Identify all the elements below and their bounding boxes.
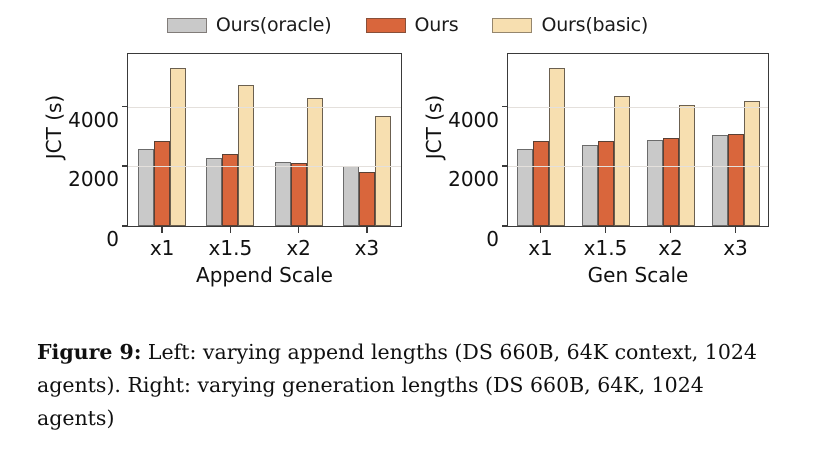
bar-gen-x1-tan[interactable] xyxy=(549,68,565,226)
x-tick-label-x1.5: x1.5 xyxy=(584,236,628,260)
bar-gen-x2-orange[interactable] xyxy=(663,138,679,226)
x-tick-mark-x2 xyxy=(298,226,300,233)
bar-append-x1.5-orange[interactable] xyxy=(222,154,238,226)
x-tick-label-x2: x2 xyxy=(286,236,311,260)
figure-caption-text: Left: varying append lengths (DS 660B, 6… xyxy=(37,340,757,430)
y-tick-label-4000: 4000 xyxy=(448,108,508,132)
x-tick-mark-x1.5 xyxy=(230,226,232,233)
x-tick-label-x1: x1 xyxy=(528,236,553,260)
bar-append-x2-gray[interactable] xyxy=(275,162,291,226)
bar-gen-x3-tan[interactable] xyxy=(744,101,760,226)
bar-gen-x1-gray[interactable] xyxy=(517,149,533,226)
x-tick-mark-x1 xyxy=(540,226,542,233)
bar-append-x3-orange[interactable] xyxy=(359,172,375,226)
y-axis-label-right: JCT (s) xyxy=(422,67,446,187)
x-tick-label-x1.5: x1.5 xyxy=(209,236,253,260)
bar-append-x2-tan[interactable] xyxy=(307,98,323,226)
x-tick-mark-x1 xyxy=(161,226,163,233)
bar-gen-x1.5-tan[interactable] xyxy=(614,96,630,226)
x-tick-label-x3: x3 xyxy=(355,236,380,260)
bar-group-x2 xyxy=(638,54,703,226)
bar-group-container-right xyxy=(508,54,768,226)
bar-append-x2-orange[interactable] xyxy=(291,163,307,226)
plot-area-right: 020004000x1x1.5x2x3 xyxy=(507,53,769,227)
gridline-2000 xyxy=(508,166,768,167)
y-tick-label-0: 0 xyxy=(106,227,128,251)
y-tick-label-2000: 2000 xyxy=(448,167,508,191)
x-tick-mark-x3 xyxy=(366,226,368,233)
bar-gen-x1.5-orange[interactable] xyxy=(598,141,614,226)
gridline-4000 xyxy=(128,107,401,108)
chart-panel-gen-scale: JCT (s) 020004000x1x1.5x2x3 Gen Scale xyxy=(380,0,815,300)
x-tick-mark-x2 xyxy=(670,226,672,233)
bar-group-x2 xyxy=(265,54,333,226)
bar-append-x1.5-gray[interactable] xyxy=(206,158,222,226)
bar-gen-x3-gray[interactable] xyxy=(712,135,728,226)
x-axis-label-left: Append Scale xyxy=(127,263,402,287)
x-tick-label-x2: x2 xyxy=(658,236,683,260)
bar-group-x1 xyxy=(128,54,196,226)
bar-append-x3-gray[interactable] xyxy=(343,166,359,226)
y-tick-label-2000: 2000 xyxy=(68,167,128,191)
figure-caption-label: Figure 9: xyxy=(37,340,141,364)
x-tick-label-x1: x1 xyxy=(150,236,175,260)
bar-append-x1-orange[interactable] xyxy=(154,141,170,226)
gridline-2000 xyxy=(128,166,401,167)
bar-gen-x1-orange[interactable] xyxy=(533,141,549,226)
bar-gen-x3-orange[interactable] xyxy=(728,134,744,226)
bar-group-x1 xyxy=(508,54,573,226)
bar-gen-x1.5-gray[interactable] xyxy=(582,145,598,226)
gridline-4000 xyxy=(508,107,768,108)
x-tick-mark-x1.5 xyxy=(605,226,607,233)
chart-panel-append-scale: JCT (s) 020004000x1x1.5x2x3 Append Scale xyxy=(0,0,410,300)
figure-caption: Figure 9: Left: varying append lengths (… xyxy=(37,336,787,435)
y-tick-label-0: 0 xyxy=(486,227,508,251)
x-tick-mark-x3 xyxy=(735,226,737,233)
bar-group-container-left xyxy=(128,54,401,226)
x-tick-label-x3: x3 xyxy=(723,236,748,260)
plot-area-left: 020004000x1x1.5x2x3 xyxy=(127,53,402,227)
y-axis-label-left: JCT (s) xyxy=(42,67,66,187)
y-tick-label-4000: 4000 xyxy=(68,108,128,132)
bar-gen-x2-gray[interactable] xyxy=(647,140,663,226)
x-axis-label-right: Gen Scale xyxy=(507,263,769,287)
bar-group-x3 xyxy=(703,54,768,226)
bar-append-x1-tan[interactable] xyxy=(170,68,186,226)
bar-group-x1.5 xyxy=(573,54,638,226)
bar-group-x1.5 xyxy=(196,54,264,226)
bar-append-x1-gray[interactable] xyxy=(138,149,154,226)
figure-root: Ours(oracle) Ours Ours(basic) JCT (s) 02… xyxy=(0,0,815,465)
